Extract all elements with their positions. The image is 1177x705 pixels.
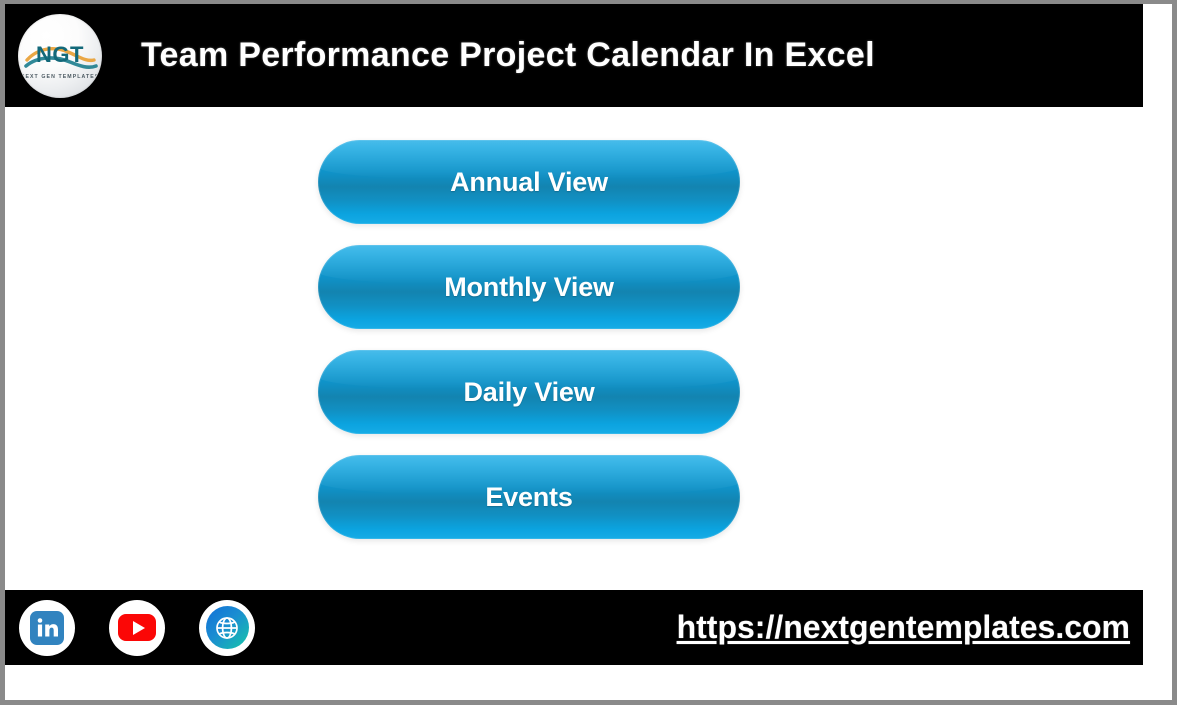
website-url[interactable]: https://nextgentemplates.com <box>677 609 1130 646</box>
globe-icon <box>206 606 249 649</box>
youtube-link[interactable] <box>109 600 165 656</box>
footer-bar: https://nextgentemplates.com <box>5 590 1143 665</box>
ngt-logo: NGT NEXT GEN TEMPLATES <box>18 14 102 98</box>
header-bar: NGT NEXT GEN TEMPLATES Team Performance … <box>5 4 1143 107</box>
svg-text:NEXT GEN TEMPLATES: NEXT GEN TEMPLATES <box>21 74 100 80</box>
monthly-view-label: Monthly View <box>444 272 614 303</box>
events-button[interactable]: Events <box>318 455 740 539</box>
monthly-view-button[interactable]: Monthly View <box>318 245 740 329</box>
linkedin-link[interactable] <box>19 600 75 656</box>
youtube-play-triangle <box>133 621 145 635</box>
website-link[interactable] <box>199 600 255 656</box>
social-links <box>19 600 255 656</box>
page-title: Team Performance Project Calendar In Exc… <box>141 36 875 75</box>
annual-view-label: Annual View <box>450 167 608 198</box>
annual-view-button[interactable]: Annual View <box>318 140 740 224</box>
navigation-button-stack: Annual View Monthly View Daily View Even… <box>318 140 746 539</box>
daily-view-label: Daily View <box>463 377 594 408</box>
svg-text:NGT: NGT <box>36 42 84 67</box>
daily-view-button[interactable]: Daily View <box>318 350 740 434</box>
events-label: Events <box>485 482 572 513</box>
slide-page: NGT NEXT GEN TEMPLATES Team Performance … <box>0 0 1177 705</box>
youtube-icon <box>118 614 156 641</box>
main-content: Annual View Monthly View Daily View Even… <box>5 107 1172 590</box>
linkedin-icon <box>30 611 64 645</box>
